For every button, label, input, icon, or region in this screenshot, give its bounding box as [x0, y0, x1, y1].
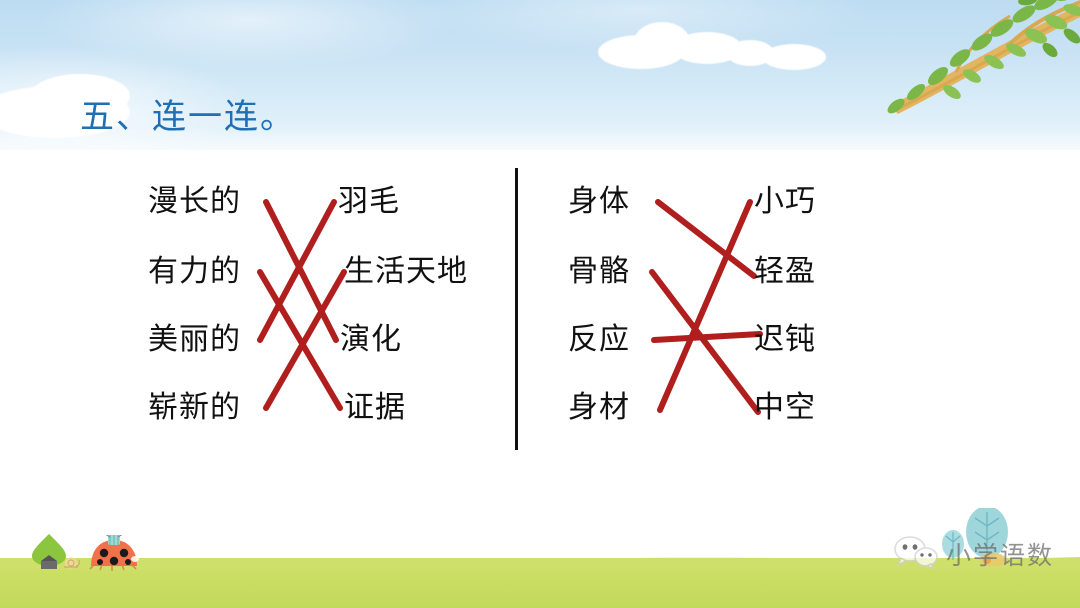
match-item-left[interactable]: 美丽的	[148, 323, 241, 357]
match-item-right[interactable]: 迟钝	[754, 323, 816, 357]
match-item-right[interactable]: 小巧	[754, 185, 816, 219]
match-item-left[interactable]: 崭新的	[148, 391, 241, 425]
connection-line[interactable]	[266, 272, 344, 408]
match-item-left[interactable]: 反应	[568, 323, 630, 357]
leafy-branch-icon	[860, 0, 1080, 118]
match-item-left[interactable]: 有力的	[148, 255, 241, 289]
watermark: 小学语数	[893, 532, 1054, 576]
connection-line[interactable]	[654, 334, 760, 340]
paper-top-edge	[0, 146, 1080, 172]
match-item-right[interactable]: 演化	[340, 323, 402, 357]
match-item-right[interactable]: 羽毛	[338, 185, 400, 219]
cloud-shape	[762, 44, 826, 70]
slide-canvas: 五、连一连。 漫长的 有力的 美丽的 崭新的 羽毛 生活天地 演化 证据	[0, 0, 1080, 608]
section-divider	[515, 168, 518, 450]
watermark-label: 小学语数	[946, 536, 1054, 572]
match-item-right[interactable]: 中空	[754, 391, 816, 425]
match-item-left[interactable]: 身体	[568, 185, 630, 219]
match-item-left[interactable]: 身材	[568, 391, 630, 425]
match-item-right[interactable]: 证据	[344, 391, 406, 425]
matching-group-left: 漫长的 有力的 美丽的 崭新的 羽毛 生活天地 演化 证据	[148, 180, 498, 430]
match-item-right[interactable]: 生活天地	[344, 255, 468, 289]
page-title: 五、连一连。	[80, 101, 296, 135]
matching-group-right: 身体 骨骼 反应 身材 小巧 轻盈 迟钝 中空	[568, 180, 868, 430]
connection-line[interactable]	[260, 272, 340, 408]
match-item-right[interactable]: 轻盈	[754, 255, 816, 289]
connection-line[interactable]	[658, 202, 754, 276]
ladybug-icon	[88, 535, 140, 571]
match-item-left[interactable]: 骨骼	[568, 255, 630, 289]
wechat-logo-icon	[893, 535, 939, 574]
snail-icon	[62, 556, 82, 570]
match-item-left[interactable]: 漫长的	[148, 185, 241, 219]
